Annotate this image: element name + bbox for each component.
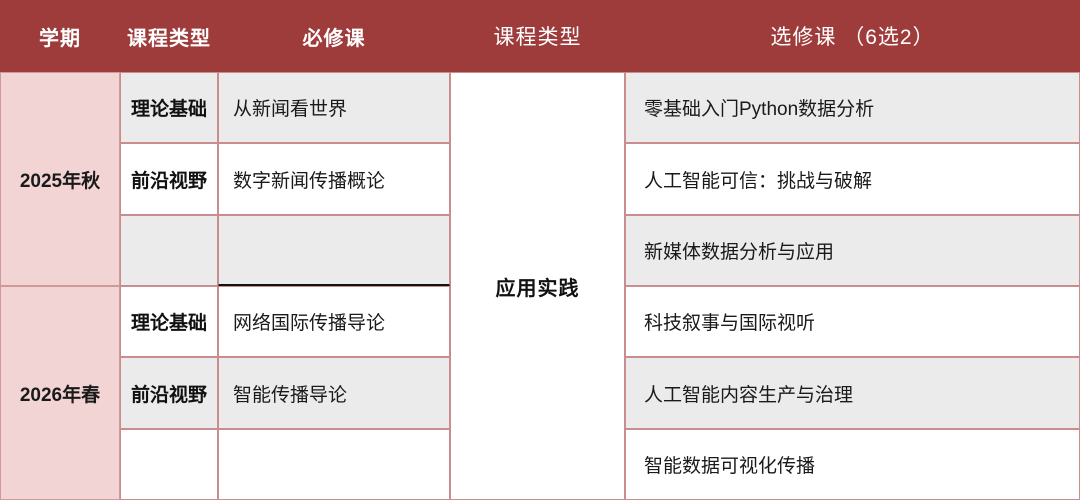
header-semester: 学期 bbox=[0, 0, 120, 72]
header-course-type-left: 课程类型 bbox=[120, 0, 218, 72]
elective-course-cell: 新媒体数据分析与应用 bbox=[625, 215, 1080, 286]
required-course-cell: 从新闻看世界 bbox=[218, 72, 450, 143]
elective-course-cell: 零基础入门Python数据分析 bbox=[625, 72, 1080, 143]
elective-course-cell: 人工智能内容生产与治理 bbox=[625, 357, 1080, 429]
course-type-cell bbox=[120, 429, 218, 500]
header-course-type-right: 课程类型 bbox=[450, 0, 625, 72]
required-course-cell: 数字新闻传播概论 bbox=[218, 143, 450, 215]
required-course-cell: 网络国际传播导论 bbox=[218, 286, 450, 357]
elective-course-cell: 科技叙事与国际视听 bbox=[625, 286, 1080, 357]
semester-cell-2025-autumn: 2025年秋 bbox=[0, 72, 120, 286]
course-type-cell: 前沿视野 bbox=[120, 143, 218, 215]
semester-cell-2026-spring: 2026年春 bbox=[0, 286, 120, 500]
required-course-cell bbox=[218, 215, 450, 286]
course-type-cell: 前沿视野 bbox=[120, 357, 218, 429]
required-course-cell: 智能传播导论 bbox=[218, 357, 450, 429]
elective-course-cell: 人工智能可信：挑战与破解 bbox=[625, 143, 1080, 215]
course-type-cell: 理论基础 bbox=[120, 286, 218, 357]
course-type-cell: 理论基础 bbox=[120, 72, 218, 143]
required-course-cell bbox=[218, 429, 450, 500]
practice-course-type-cell: 应用实践 bbox=[450, 72, 625, 500]
course-plan-table: 学期 课程类型 必修课 课程类型 选修课 （6选2） 2025年秋 2026年春… bbox=[0, 0, 1080, 500]
table-body: 2025年秋 2026年春 理论基础 前沿视野 理论基础 前沿视野 从新闻看世界… bbox=[0, 72, 1080, 500]
header-elective-course: 选修课 （6选2） bbox=[625, 0, 1080, 72]
header-required-course: 必修课 bbox=[218, 0, 450, 72]
course-type-cell bbox=[120, 215, 218, 286]
table-header-row: 学期 课程类型 必修课 课程类型 选修课 （6选2） bbox=[0, 0, 1080, 72]
elective-course-cell: 智能数据可视化传播 bbox=[625, 429, 1080, 500]
